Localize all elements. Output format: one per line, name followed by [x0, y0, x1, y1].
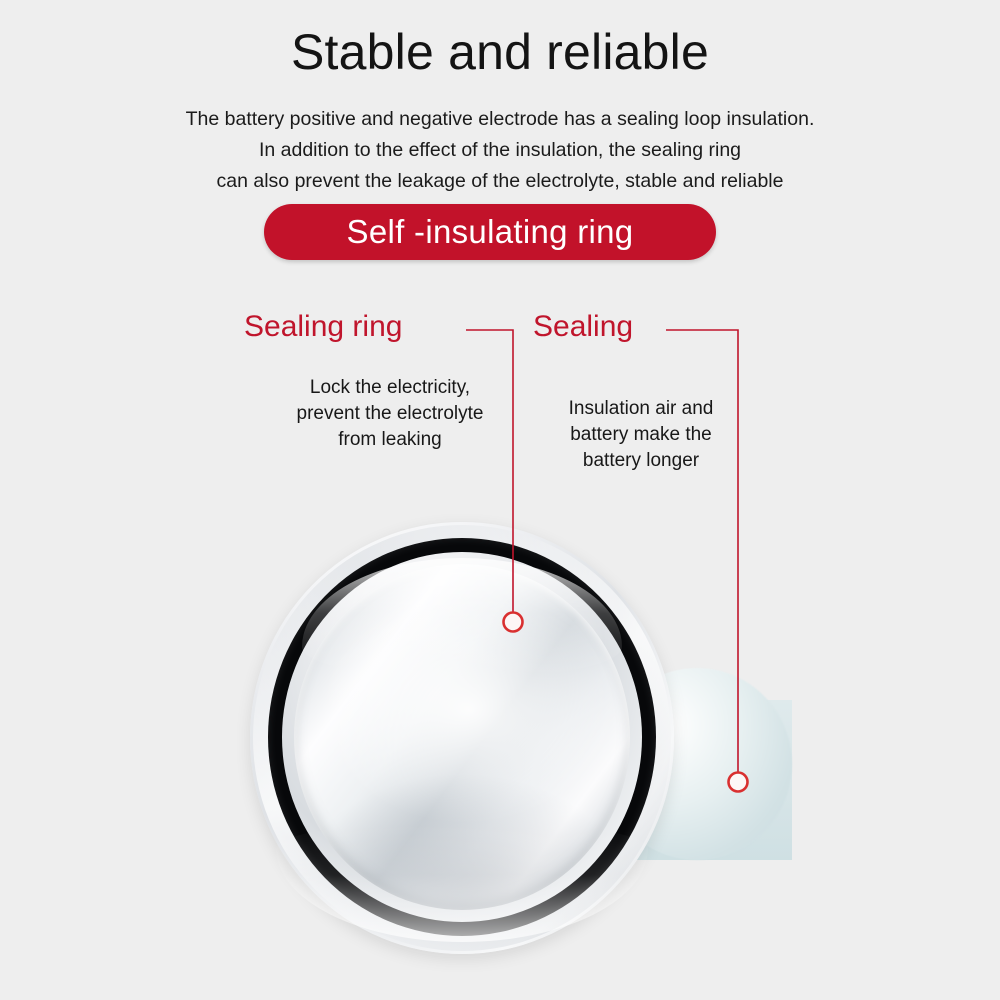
infographic-page: Stable and reliable The battery positive…	[0, 0, 1000, 1000]
battery-illustration	[0, 0, 1000, 1000]
coin-cell-battery	[250, 522, 674, 954]
battery-rim-bottom-light	[276, 822, 648, 942]
